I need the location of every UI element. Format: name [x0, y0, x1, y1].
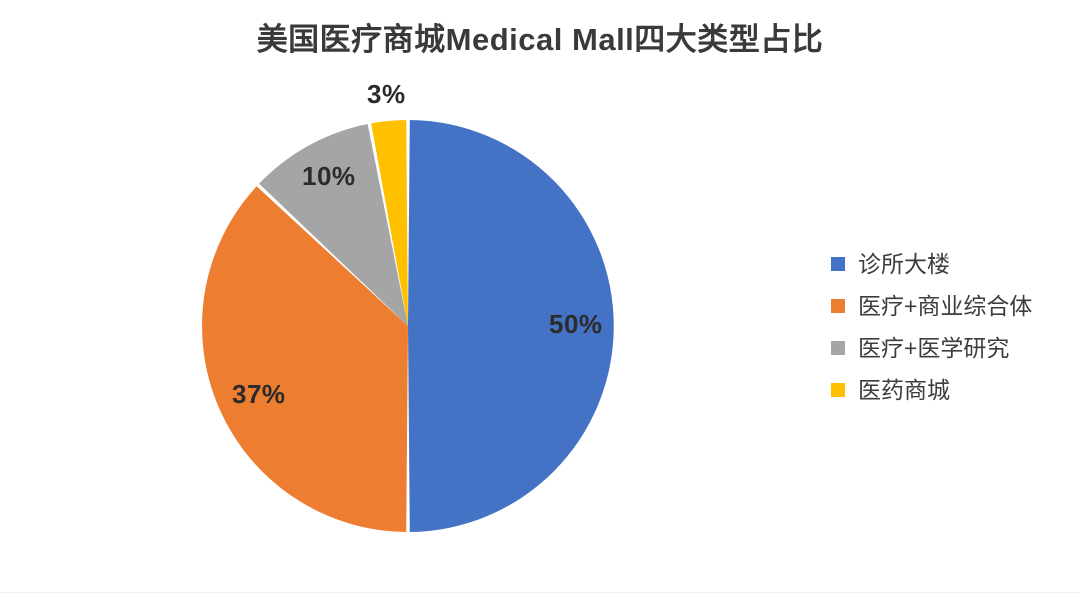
chart-legend: 诊所大楼 医疗+商业综合体 医疗+医学研究 医药商城 [831, 243, 1032, 411]
legend-swatch-icon-0 [831, 257, 845, 271]
legend-item-3[interactable]: 医药商城 [831, 369, 1032, 411]
chart-canvas: 美国医疗商城Medical Mall四大类型占比 50% 37% 10% 3% … [0, 0, 1080, 593]
legend-swatch-icon-1 [831, 299, 845, 313]
legend-label-1: 医疗+商业综合体 [858, 295, 1032, 318]
pie-data-label-1: 37% [232, 379, 286, 410]
legend-label-2: 医疗+医学研究 [858, 337, 1009, 360]
legend-label-3: 医药商城 [858, 379, 950, 402]
legend-label-0: 诊所大楼 [858, 253, 950, 276]
pie-data-label-2: 10% [302, 161, 356, 192]
page-title: 美国医疗商城Medical Mall四大类型占比 [0, 14, 1080, 59]
legend-item-0[interactable]: 诊所大楼 [831, 243, 1032, 285]
legend-item-2[interactable]: 医疗+医学研究 [831, 327, 1032, 369]
legend-swatch-icon-2 [831, 341, 845, 355]
legend-swatch-icon-3 [831, 383, 845, 397]
legend-item-1[interactable]: 医疗+商业综合体 [831, 285, 1032, 327]
pie-data-label-0: 50% [549, 309, 603, 340]
pie-data-label-3: 3% [367, 79, 406, 110]
